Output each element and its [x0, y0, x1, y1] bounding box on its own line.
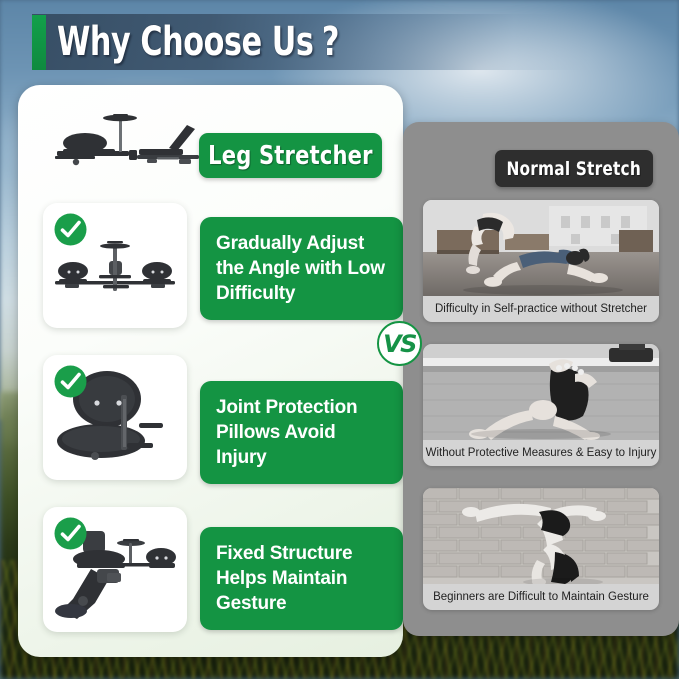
card-caption: Beginners are Difficult to Maintain Gest…: [423, 584, 659, 610]
green-check-circle-icon: [54, 365, 87, 398]
normal-stretch-panel: Normal Stretch: [403, 122, 679, 636]
green-check-circle-icon: [54, 517, 87, 550]
feature-text: Joint Protection Pillows Avoid Injury: [200, 381, 403, 484]
leg-stretcher-panel: Leg Stretcher: [18, 85, 403, 657]
leg-stretcher-badge: Leg Stretcher: [199, 133, 382, 178]
normal-stretch-card: Without Protective Measures & Easy to In…: [423, 344, 659, 466]
feature-text: Fixed Structure Helps Maintain Gesture: [200, 527, 403, 630]
versus-label: VS: [383, 332, 416, 356]
normal-stretch-card: Beginners are Difficult to Maintain Gest…: [423, 488, 659, 610]
feature-text: Gradually Adjust the Angle with Low Diff…: [200, 217, 403, 320]
page-title-question-mark: ?: [313, 19, 339, 65]
versus-badge: VS: [377, 321, 422, 366]
page-title-text: Why Choose Us: [57, 19, 313, 65]
dancer-side-split-floor-photo: [423, 344, 659, 440]
header-accent-bar: [32, 15, 46, 70]
dancer-handstand-brick-wall-photo: [423, 488, 659, 584]
card-caption: Difficulty in Self-practice without Stre…: [423, 296, 659, 322]
page-title: Why Choose Us ?: [57, 14, 339, 70]
card-caption: Without Protective Measures & Easy to In…: [423, 440, 659, 466]
leg-stretcher-machine-image: [51, 107, 211, 175]
normal-stretch-badge-label: Normal Stretch: [507, 158, 641, 180]
leg-stretcher-badge-label: Leg Stretcher: [208, 141, 373, 171]
green-check-circle-icon: [54, 213, 87, 246]
header: Why Choose Us ?: [0, 0, 679, 86]
normal-stretch-card: Difficulty in Self-practice without Stre…: [423, 200, 659, 322]
two-dancers-floor-stretch-photo: [423, 200, 659, 296]
normal-stretch-badge: Normal Stretch: [495, 150, 653, 187]
